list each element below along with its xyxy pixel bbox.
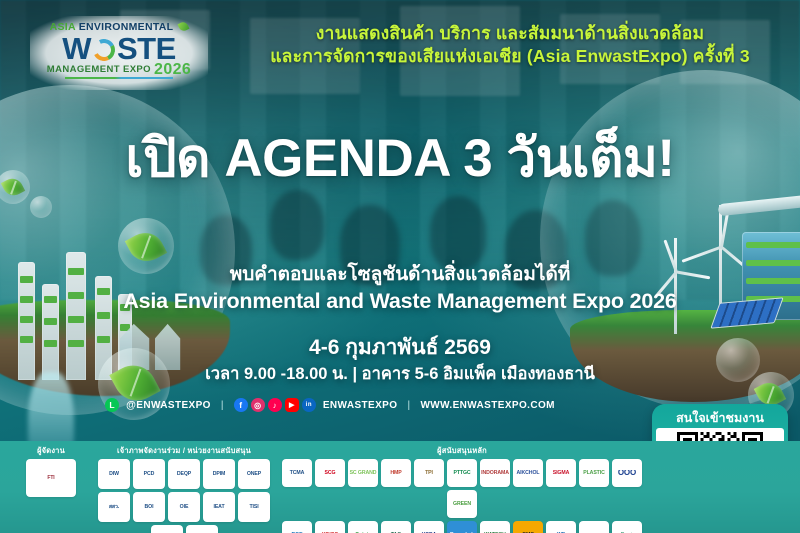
qr-panel-title: สนใจเข้าชมงาน [656,408,784,428]
sponsor-logos-row1: TCMA SCG SC GRAND HMP TPI PTTGC INDORAMA… [278,459,646,518]
partner-logo-text: DEQP [176,471,192,477]
partner-logo[interactable]: GREEN [447,490,477,518]
youtube-icon[interactable]: ▶ [285,398,299,412]
instagram-icon[interactable]: ◎ [251,398,265,412]
partner-logo-text: DPIM [212,471,227,477]
event-subtitle-line2: และการจัดการของเสียแห่งเอเชีย (Asia Enwa… [220,45,800,68]
partner-logo[interactable]: TCMA [282,459,312,487]
website-url[interactable]: WWW.ENWASTEXPO.COM [420,400,554,411]
partner-logo[interactable]: BGE [282,521,312,533]
partner-logo-text: ONEP [246,471,262,477]
sub-headline-thai: พบคำตอบและโซลูชันด้านสิ่งแวดล้อมได้ที่ [0,262,800,287]
event-subtitle-block: งานแสดงสินค้า บริการ และสัมมนาด้านสิ่งแว… [220,22,800,68]
partner-logo[interactable]: SCG [315,459,345,487]
main-headline: เปิด AGENDA 3 วันเต็ม! [0,128,800,190]
partner-logo-text: GREEN [452,501,472,507]
partner-logo[interactable]: PLASTIC [579,459,609,487]
logo-waste-wordmark: WSTE [30,33,208,64]
partner-logo-text: TCMA [289,470,306,476]
partner-logo[interactable]: Quinta [348,521,378,533]
partner-logo-text: PCD [143,471,156,477]
partner-logo[interactable]: DGR [151,525,183,533]
host-label: เจ้าภาพจัดงานร่วม / หน่วยงานสนับสนุน [96,445,272,456]
partner-logo[interactable]: genco [579,521,609,533]
partner-logo-text: OOO [617,470,637,476]
partner-logo[interactable]: GMC [513,521,543,533]
partner-logo[interactable]: FTI [26,459,76,497]
crowd-silhouette [270,190,324,260]
line-handle: @ENWASTEXPO [126,400,211,411]
partner-logo-text: INDORAMA [480,470,510,476]
partner-logo[interactable]: KINGS [315,521,345,533]
organizer-section: ผู้จัดงาน FTI [8,445,94,497]
partner-logo-text: TISI [248,504,259,510]
poster-canvas: ASIA ENVIRONMENTAL WSTE MANAGEMENT EXPO … [0,0,800,533]
partner-logo-text: AIKCHOL [516,470,541,476]
partner-logo-text: สสว. [108,504,120,510]
partner-logo-text: FTI [46,475,55,481]
partner-logo[interactable]: TPI [414,459,444,487]
partner-logo[interactable]: YODA [414,521,444,533]
partner-logo[interactable]: TAG [381,521,411,533]
line-icon[interactable]: L [105,398,119,412]
partner-logo-text: PLASTIC [582,470,606,476]
partner-logo[interactable]: OOO [612,459,642,487]
partner-logo-text: TPI [424,470,434,476]
linkedin-icon[interactable]: in [302,398,316,412]
partner-logo[interactable]: สสว. [98,492,130,522]
partner-logo[interactable]: SC GRAND [348,459,378,487]
bubble [30,196,52,218]
partner-logo-text: PTTGC [452,470,471,476]
sub-headline-english: Asia Environmental and Waste Management … [0,287,800,316]
logo-waste-ste: STE [117,31,176,66]
partner-logo-text: HMP [389,470,402,476]
event-date: 4-6 กุมภาพันธ์ 2569 [0,334,800,362]
social-icon-group: f ◎ ♪ ▶ in [234,398,316,412]
date-block: 4-6 กุมภาพันธ์ 2569 เวลา 9.00 -18.00 น. … [0,334,800,386]
sponsor-section: ผู้สนับสนุนหลัก TCMA SCG SC GRAND HMP TP… [278,445,646,533]
partner-logo[interactable]: BOI [133,492,165,522]
social-bar: L @ENWASTEXPO | f ◎ ♪ ▶ in ENWASTEXPO | … [0,398,660,412]
sponsor-logos-row2: BGE KINGS Quinta TAG YODA Bangchak WATEC… [278,521,646,533]
event-time-venue: เวลา 9.00 -18.00 น. | อาคาร 5-6 อิมแพ็ค … [0,362,800,386]
partner-logo[interactable]: ONEP [238,459,270,489]
partner-logo-text: OIE [179,504,190,510]
event-logo: ASIA ENVIRONMENTAL WSTE MANAGEMENT EXPO … [30,16,208,90]
partner-logo[interactable]: PTTGC [447,459,477,487]
event-subtitle-line1: งานแสดงสินค้า บริการ และสัมมนาด้านสิ่งแว… [220,22,800,45]
social-separator-2: | [404,400,413,411]
partner-logo-text: SIGMA [552,470,571,476]
partner-logo-text: SCG [324,470,337,476]
partner-logo[interactable]: IEAT [203,492,235,522]
tiktok-icon[interactable]: ♪ [268,398,282,412]
facebook-icon[interactable]: f [234,398,248,412]
partner-logo-text: DIW [108,471,120,477]
partner-logo[interactable]: PCD [133,459,165,489]
partner-logo[interactable]: DEQP [168,459,200,489]
partner-logo[interactable]: WATECH [480,521,510,533]
organizer-label: ผู้จัดงาน [8,445,94,456]
recycle-arrows-icon [91,37,117,63]
partner-logo[interactable]: OIE [168,492,200,522]
sub-headline-block: พบคำตอบและโซลูชันด้านสิ่งแวดล้อมได้ที่ A… [0,262,800,316]
partner-logo[interactable]: HMP [381,459,411,487]
host-section: เจ้าภาพจัดงานร่วม / หน่วยงานสนับสนุน DIW… [96,445,272,533]
crowd-silhouette [430,196,486,270]
partner-logo[interactable]: AIKCHOL [513,459,543,487]
sponsor-label: ผู้สนับสนุนหลัก [278,445,646,456]
organizer-logos: FTI [8,459,94,497]
partner-bar: ผู้จัดงาน FTI เจ้าภาพจัดงานร่วม / หน่วยง… [0,441,800,533]
partner-logo[interactable]: Eco+ [612,521,642,533]
social-handle: ENWASTEXPO [323,400,398,411]
partner-logo-text: BOI [144,504,155,510]
partner-logo-text: IEAT [212,504,225,510]
partner-logo[interactable]: Bangchak [447,521,477,533]
partner-logo[interactable]: TISI [238,492,270,522]
partner-logo[interactable]: SIGMA [546,459,576,487]
partner-logo[interactable]: CIRCO [186,525,218,533]
partner-logo[interactable]: WE [546,521,576,533]
partner-logo[interactable]: DPIM [203,459,235,489]
logo-waste-w: W [62,31,91,66]
social-separator-1: | [218,400,227,411]
partner-logo[interactable]: DIW [98,459,130,489]
partner-logo[interactable]: INDORAMA [480,459,510,487]
logo-leaf-icon [178,21,190,33]
partner-logo-text: SC GRAND [349,470,378,476]
host-logos: DIW PCD DEQP DPIM ONEP สสว. BOI OIE IEAT… [96,459,272,533]
